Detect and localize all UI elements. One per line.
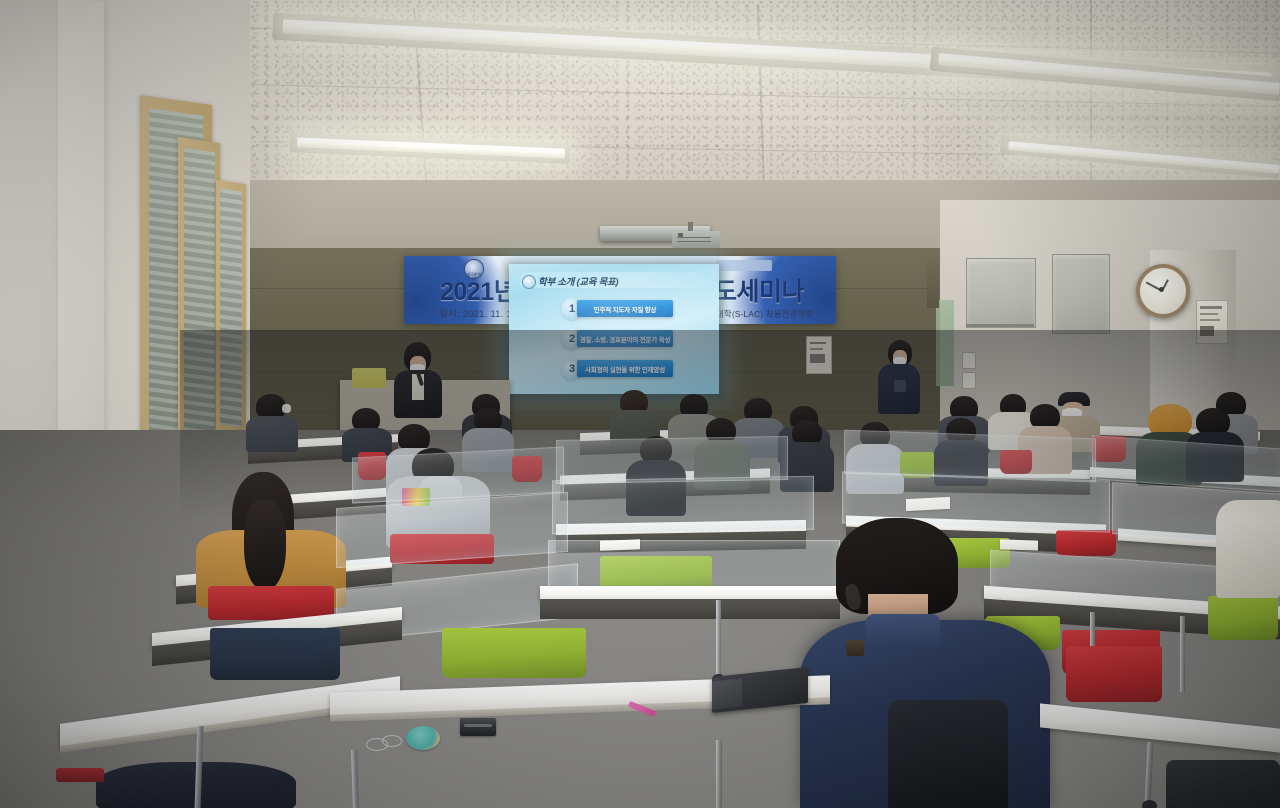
banner-subtitle-right: 대학(S-LAC) 자율전공학부 <box>716 308 813 320</box>
desk-row-d-center-side <box>540 599 840 619</box>
projector-port <box>678 233 683 237</box>
poster-image <box>810 354 825 363</box>
poster-line <box>810 342 826 344</box>
attendee-white-jacket-right <box>1216 500 1280 598</box>
whiteboard-2 <box>1052 254 1110 334</box>
wall-switch-plate <box>962 372 976 389</box>
foreground-man-collar <box>866 614 940 646</box>
wall-outlet-plate <box>962 352 976 369</box>
desk-row-d-center <box>540 586 840 600</box>
projector-vent <box>677 241 711 242</box>
banner-title-left: 2021년 <box>440 272 516 308</box>
desk-caster <box>1142 800 1157 808</box>
yellow-folder <box>352 368 386 388</box>
slide-title: 학부 소개 (교육 목표) <box>538 274 618 288</box>
chair-red-c1[interactable] <box>1056 530 1116 556</box>
poster-line <box>810 348 823 350</box>
seminar-room-photo: 대구한의대 2021년 도세미나 · 일시: 2021. 11. 11. 대학(… <box>0 0 1280 808</box>
round-tin <box>406 726 440 750</box>
notice-thumbnail <box>1200 326 1214 336</box>
slide-bullet-icon <box>522 275 536 289</box>
whiteboard-1 <box>966 258 1036 328</box>
projector-body <box>672 231 720 248</box>
chair-red-front-right[interactable] <box>1066 646 1162 702</box>
staff-held-item <box>894 380 906 392</box>
desk-leg <box>716 740 722 808</box>
tablet-stand-flap <box>712 678 742 709</box>
chair-red-camel[interactable] <box>208 586 334 620</box>
slide-bar-1: 민주적 지도자 자질 향상 <box>577 300 673 317</box>
smartphone <box>460 718 496 736</box>
door-frame <box>927 256 939 308</box>
slide-bar-3: 사회정의 실현을 위한 인재양성 <box>577 360 673 377</box>
foreground-chair-back <box>888 700 1008 808</box>
chair-navy-d1[interactable] <box>210 628 340 680</box>
desk-leg <box>1180 616 1185 692</box>
notice-line <box>1200 306 1222 309</box>
smartphone-screen-line <box>464 724 492 727</box>
notice-line <box>1200 313 1218 315</box>
foreground-man-hand-item <box>846 640 864 656</box>
wall-clock <box>1136 264 1190 318</box>
clock-center-pin <box>1159 287 1164 292</box>
door-glass-panel <box>936 300 954 386</box>
desk-leg <box>716 600 721 678</box>
paper-sheet <box>1000 539 1038 550</box>
attendee-a1-mask <box>282 404 291 413</box>
partner-logo-icon <box>716 260 772 271</box>
chair-red-foreground[interactable] <box>56 768 104 782</box>
paper-sheet <box>906 497 950 511</box>
projector-vent <box>677 237 711 238</box>
banner-title-right: 도세미나 <box>714 272 804 308</box>
paper-sheet <box>600 539 640 550</box>
chair-dark-front-right[interactable] <box>1166 760 1280 808</box>
chair-green-front-right[interactable] <box>1208 596 1278 640</box>
acrylic-divider-c2 <box>552 476 814 535</box>
eyeglasses-lens-2 <box>382 735 402 747</box>
whiteboard-rail <box>966 324 1034 327</box>
attendee-a1-body <box>246 416 298 452</box>
slide-bar-2: 경찰, 소방, 경호분야의 전문가 육성 <box>577 330 673 347</box>
window-glass-3 <box>220 188 242 427</box>
projection-screen: 학부 소개 (교육 목표) 1 민주적 지도자 자질 향상 2 경찰, 소방, … <box>509 264 719 394</box>
notice-line <box>1200 319 1220 321</box>
attendee-camel-hair-front <box>244 500 286 590</box>
chair-green-d1[interactable] <box>442 628 586 678</box>
window-glass-2 <box>184 148 215 464</box>
